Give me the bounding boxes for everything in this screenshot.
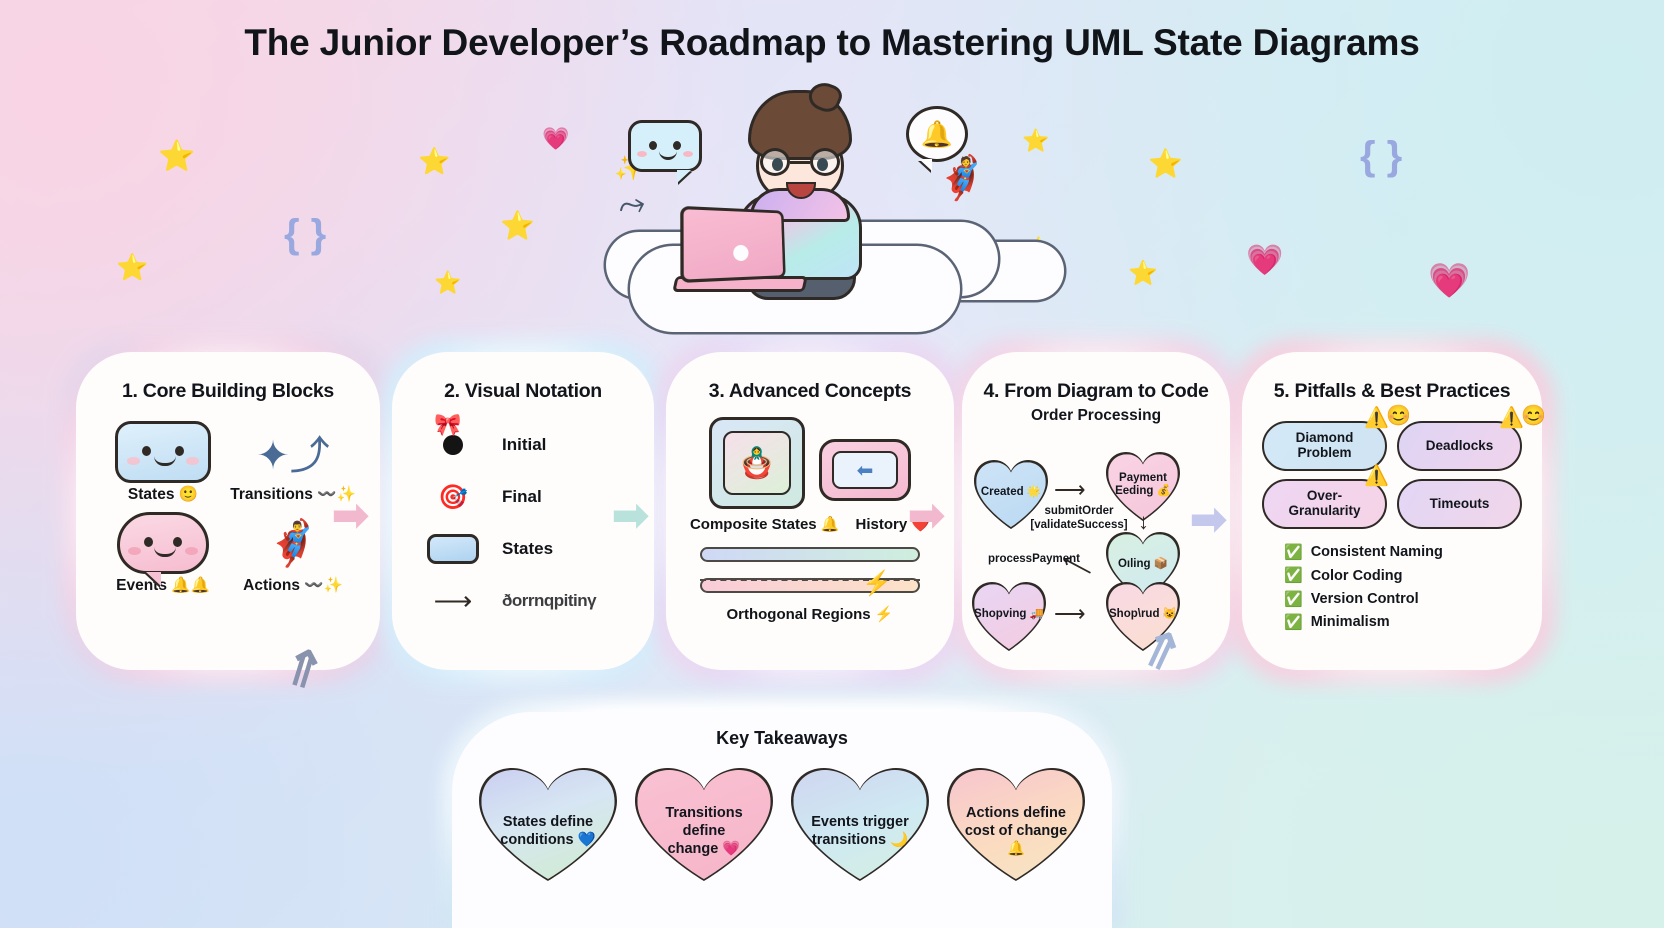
edge-label-process-payment: processPayment	[968, 553, 1100, 567]
takeaway-actions-line2: cost of change 🔔	[965, 823, 1067, 857]
checklist-item-minimalism[interactable]: ✅ Minimalism	[1284, 611, 1542, 634]
pitfall-timeouts[interactable]: Timeouts	[1397, 479, 1522, 529]
connector-4-to-5: ➡	[1190, 494, 1227, 545]
card-1-label-states: States 🙂	[98, 485, 228, 504]
checklist-label-minimalism: Minimalism	[1311, 611, 1390, 633]
hero-illustration: 🔔 ✨ ⤳ 🦸	[612, 82, 982, 332]
pitfall-deadlocks-label: Deadlocks	[1426, 439, 1494, 454]
straight-arrow-icon: ⟶	[426, 586, 480, 617]
takeaway-events-line1: Events trigger	[811, 814, 909, 830]
card-1-label-events: Events 🔔🔔	[98, 576, 228, 595]
bell-speech-bubble-icon: 🔔	[906, 106, 968, 162]
connector-1-to-2: ➡	[332, 490, 369, 541]
left-arrow-history-icon: ⬅	[832, 451, 898, 489]
star-icon: ⭐	[116, 254, 148, 280]
card-5-title: 5. Pitfalls & Best Practices	[1242, 352, 1542, 403]
pitfall-diamond-problem-line2: Problem	[1297, 445, 1351, 460]
heart-icon: 💗	[1246, 246, 1283, 276]
heart-icon: 💗	[1428, 264, 1470, 298]
takeaway-events[interactable]: Events trigger transitions 🌙	[785, 763, 935, 881]
star-icon: ⭐	[158, 142, 195, 172]
takeaway-transitions-line1: Transitions define	[665, 805, 742, 839]
star-icon: ⭐	[1022, 130, 1049, 152]
curly-braces-icon: { }	[284, 214, 326, 254]
star-icon: ⭐	[500, 212, 535, 240]
star-icon: ⭐	[1026, 238, 1051, 258]
takeaway-actions-line1: Actions define	[966, 805, 1066, 821]
card-1-title: 1. Core Building Blocks	[76, 352, 380, 403]
pitfall-over-granularity-line2: Granularity	[1288, 503, 1360, 518]
pitfall-over-granularity-line1: Over-	[1307, 488, 1342, 503]
takeaway-states-line2: conditions 💙	[500, 832, 595, 848]
curved-arrow-icon: ⤳	[613, 183, 650, 228]
best-practices-checklist: ✅ Consistent Naming ✅ Color Coding ✅ Ver…	[1242, 529, 1542, 634]
pitfall-diamond-problem[interactable]: ⚠️ 😊 Diamond Problem	[1262, 421, 1387, 471]
takeaway-transitions[interactable]: Transitions define change 💗	[629, 763, 779, 881]
card-2-title: 2. Visual Notation	[392, 352, 654, 403]
key-takeaways-panel: Key Takeaways States define conditions 💙…	[452, 712, 1112, 928]
card-4-title: 4. From Diagram to Code	[962, 352, 1230, 403]
card-2-label-states: States	[502, 539, 553, 559]
edge-label-submit-order-line1: submitOrder	[1014, 505, 1144, 519]
star-icon: ⭐	[418, 148, 450, 174]
lightning-bolt-icon: ⚡	[862, 569, 892, 598]
composite-state-box[interactable]: 🪆	[709, 417, 805, 509]
card-1-item-states[interactable]: States 🙂	[98, 417, 228, 504]
page-title: The Junior Developer’s Roadmap to Master…	[0, 22, 1664, 64]
roadmap-cards: 1. Core Building Blocks States 🙂 ✦⤴ Tran…	[0, 352, 1664, 672]
curved-arrow-icon: ✦⤴	[228, 421, 358, 483]
card-4-subtitle: Order Processing	[962, 407, 1230, 425]
star-icon: ⭐	[434, 272, 461, 294]
check-icon: ✅	[1284, 564, 1303, 587]
pitfall-timeouts-label: Timeouts	[1430, 497, 1490, 512]
checklist-item-version-control[interactable]: ✅ Version Control	[1284, 588, 1542, 611]
takeaway-actions[interactable]: Actions define cost of change 🔔	[941, 763, 1091, 881]
smiling-state-box-icon	[115, 421, 211, 483]
checklist-label-color-coding: Color Coding	[1311, 565, 1403, 587]
checklist-item-consistent-naming[interactable]: ✅ Consistent Naming	[1284, 541, 1542, 564]
history-state-box[interactable]: ⬅	[819, 439, 911, 501]
glasses-icon	[760, 148, 840, 176]
card-3-label-composite: Composite States 🔔	[690, 515, 840, 533]
warning-icon: ⚠️	[1364, 465, 1389, 487]
edge-created-to-payment: ⟶	[1054, 477, 1086, 503]
smiling-speech-bubble-icon	[117, 512, 209, 574]
checklist-label-consistent-naming: Consistent Naming	[1311, 541, 1443, 563]
bell-icon: 🔔	[921, 119, 953, 150]
orthogonal-region-top	[700, 547, 920, 562]
filled-circle-with-bow-icon	[426, 435, 480, 455]
card-2-label-final: Final	[502, 487, 542, 507]
takeaway-transitions-line2: change 💗	[668, 841, 741, 857]
card-2-row-transition[interactable]: ⟶ ðorrnqpitinγ	[426, 575, 654, 627]
pitfall-over-granularity[interactable]: ⚠️ Over- Granularity	[1262, 479, 1387, 529]
checklist-label-version-control: Version Control	[1311, 588, 1419, 610]
card-1-item-events[interactable]: Events 🔔🔔	[98, 508, 228, 595]
takeaway-states[interactable]: States define conditions 💙	[473, 763, 623, 881]
card-3-label-orthogonal: Orthogonal Regions ⚡	[666, 605, 954, 623]
card-pitfalls-best-practices[interactable]: 5. Pitfalls & Best Practices ⚠️ 😊 Diamon…	[1242, 352, 1542, 670]
orthogonal-regions-diagram: ⚡	[666, 533, 954, 593]
smiley-icon: 😊	[1521, 405, 1546, 427]
check-icon: ✅	[1284, 588, 1303, 611]
edge-label-submit-order-line2: [validateSuccess]	[1014, 519, 1144, 533]
takeaway-states-line1: States define	[503, 814, 593, 830]
smiling-chat-bubble-icon	[628, 120, 702, 172]
pitfall-deadlocks[interactable]: ⚠️ 😊 Deadlocks	[1397, 421, 1522, 471]
edge-label-submit-order: submitOrder [validateSuccess]	[1014, 505, 1144, 533]
card-2-row-initial[interactable]: Initial	[426, 419, 654, 471]
edge-shopving-to-shipped: ⟶	[1054, 601, 1086, 627]
rounded-rectangle-icon	[426, 534, 480, 564]
curly-braces-icon: { }	[1360, 136, 1402, 176]
takeaway-events-line2: transitions 🌙	[812, 832, 908, 848]
nesting-doll-icon: 🪆	[723, 431, 791, 495]
smiley-icon: 😊	[1386, 405, 1411, 427]
connector-3-to-4: ➡	[908, 490, 945, 541]
check-icon: ✅	[1284, 611, 1303, 634]
state-node-shopving-label: Shopving 🚚	[968, 579, 1050, 651]
card-2-label-transition: ðorrnqpitinγ	[502, 591, 596, 611]
connector-2-to-3: ➡	[612, 490, 649, 541]
check-icon: ✅	[1284, 541, 1303, 564]
key-takeaways-title: Key Takeaways	[452, 712, 1112, 749]
heart-icon: 💗	[542, 128, 569, 150]
checklist-item-color-coding[interactable]: ✅ Color Coding	[1284, 564, 1542, 587]
card-3-title: 3. Advanced Concepts	[666, 352, 954, 403]
star-icon: ⭐	[1148, 150, 1183, 178]
card-2-label-initial: Initial	[502, 435, 546, 455]
bullseye-target-icon: 🎯	[426, 483, 480, 512]
pitfall-diamond-problem-line1: Diamond	[1296, 430, 1354, 445]
card-1-label-actions: Actions 〰️✨	[228, 576, 358, 595]
laptop-icon	[674, 208, 806, 294]
star-icon: ⭐	[1128, 262, 1158, 286]
